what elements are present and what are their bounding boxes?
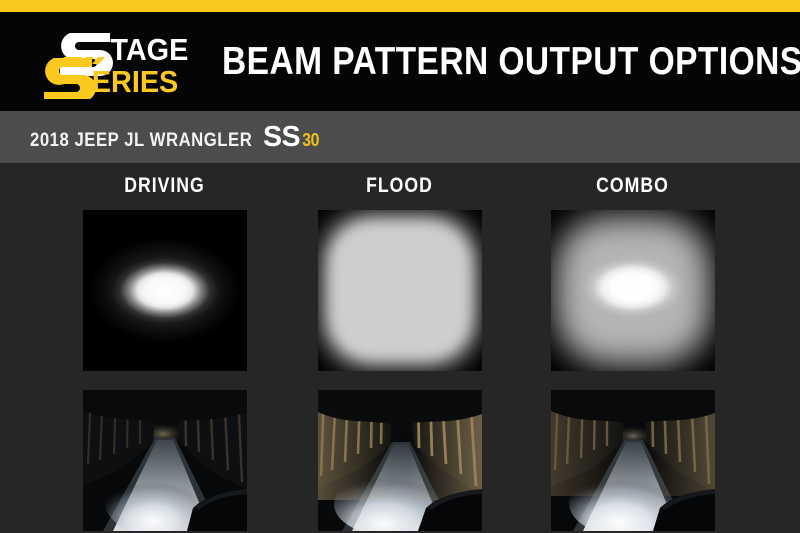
column-heading-flood: FLOOD <box>302 171 498 201</box>
product-model: SS30 <box>265 121 319 154</box>
model-number: 30 <box>302 130 319 151</box>
top-accent-rule <box>0 0 800 12</box>
road-photo-combo <box>551 390 715 531</box>
column-heading-combo: COMBO <box>535 171 731 201</box>
svg-text:ERIES: ERIES <box>92 65 178 99</box>
stage-series-logo: TAGE ERIES <box>36 25 196 99</box>
column-flood: FLOOD <box>283 163 516 531</box>
road-photo-flood <box>318 390 482 531</box>
column-heading-driving: DRIVING <box>67 171 263 201</box>
beam-pattern-infographic: TAGE ERIES BEAM PATTERN OUTPUT OPTIONS 2… <box>0 0 800 533</box>
beam-pattern-flood <box>318 210 482 371</box>
column-combo: COMBO <box>516 163 749 531</box>
beam-halo-icon <box>83 210 247 371</box>
page-title: BEAM PATTERN OUTPUT OPTIONS <box>222 42 800 81</box>
column-driving: DRIVING <box>48 163 281 531</box>
model-prefix: SS <box>263 121 300 154</box>
beam-comparison-grid: DRIVING <box>0 163 800 533</box>
header-band: TAGE ERIES BEAM PATTERN OUTPUT OPTIONS <box>0 12 800 111</box>
svg-text:TAGE: TAGE <box>110 33 188 67</box>
beam-wide-core-icon <box>332 224 468 357</box>
subtitle-band: 2018 JEEP JL WRANGLER SS30 <box>0 111 800 163</box>
beam-hotspot-icon <box>551 210 715 371</box>
vehicle-name: 2018 JEEP JL WRANGLER <box>30 130 252 152</box>
beam-pattern-combo <box>551 210 715 371</box>
vehicle-model-line: 2018 JEEP JL WRANGLER SS30 <box>30 121 319 154</box>
beam-pattern-driving <box>83 210 247 371</box>
road-photo-driving <box>83 390 247 531</box>
